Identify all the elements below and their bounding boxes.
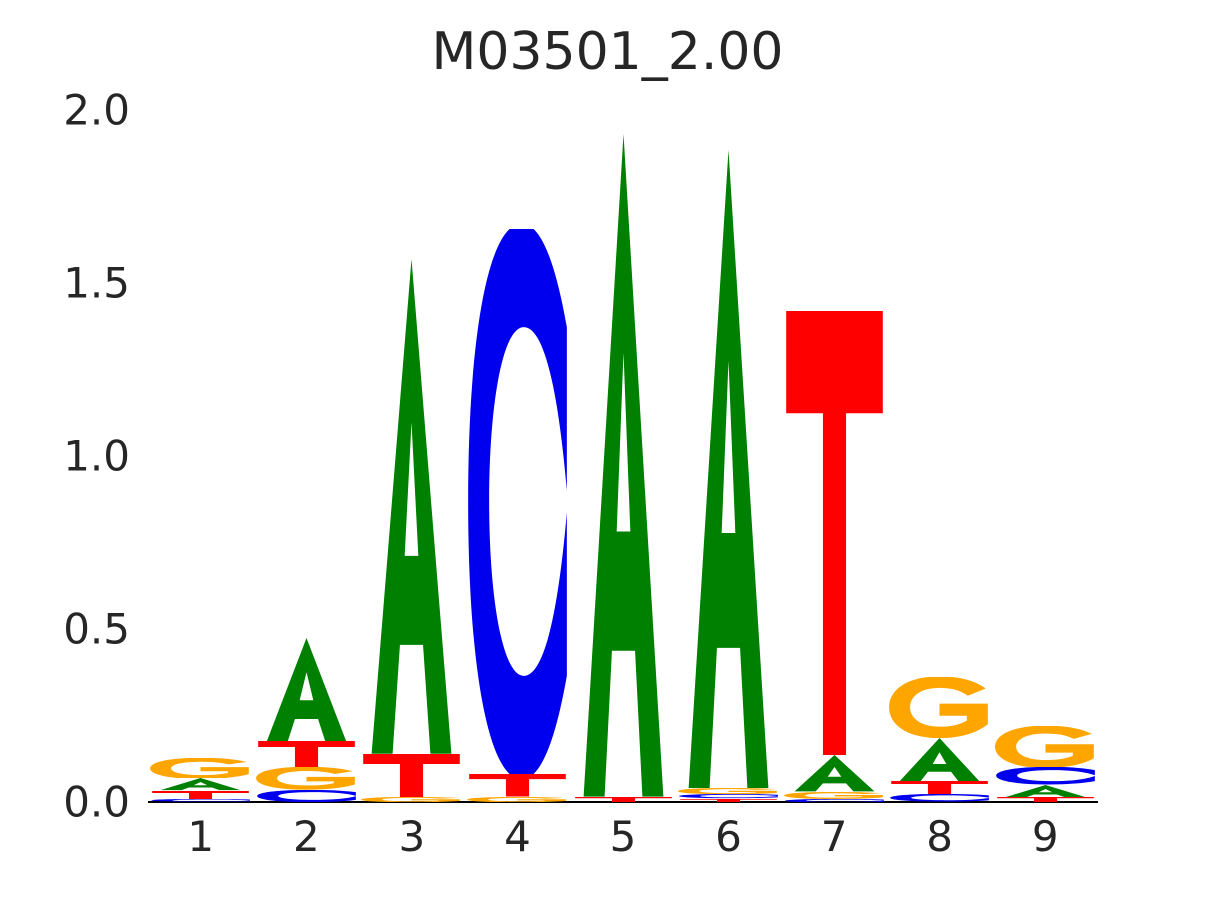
y-axis-ticks: 0.00.51.01.52.0 (0, 0, 130, 900)
letter-stack (254, 638, 359, 802)
y-tick-label: 1.0 (10, 432, 130, 481)
logo-letter-T-pos-3 (359, 754, 464, 797)
logo-letter-C-pos-8 (887, 794, 992, 802)
logo-letter-T-pos-4 (465, 774, 570, 796)
logo-letter-T-pos-2 (254, 741, 359, 767)
logo-column-9 (993, 110, 1098, 802)
x-tick-label-5: 5 (571, 812, 676, 861)
logo-column-3 (359, 110, 464, 802)
logo-letter-G-pos-1 (148, 758, 253, 779)
logo-letter-A-pos-8 (887, 738, 992, 781)
x-tick-label-3: 3 (359, 812, 464, 861)
logo-column-2 (254, 110, 359, 802)
x-tick-label-2: 2 (254, 812, 359, 861)
y-tick-label: 0.0 (10, 778, 130, 827)
letter-stack (148, 758, 253, 802)
logo-letter-A-pos-2 (254, 638, 359, 742)
letter-stack (359, 259, 464, 802)
logo-letter-A-pos-3 (359, 259, 464, 754)
x-tick-label-1: 1 (148, 812, 253, 861)
x-tick-label-9: 9 (993, 812, 1098, 861)
logo-letter-C-pos-7 (782, 799, 887, 802)
logo-letter-C-pos-2 (254, 790, 359, 802)
logo-letter-T-pos-6 (676, 799, 781, 802)
logo-letter-A-pos-5 (571, 134, 676, 797)
y-tick-label: 1.5 (10, 259, 130, 308)
logo-column-8 (887, 110, 992, 802)
logo-letter-T-pos-8 (887, 781, 992, 794)
logo-letter-C-pos-9 (993, 767, 1098, 784)
letter-stack (993, 726, 1098, 802)
logo-letter-T-pos-7 (782, 311, 887, 756)
letter-stack (887, 677, 992, 802)
logo-column-4 (465, 110, 570, 802)
letter-stack (465, 229, 570, 802)
logo-letter-A-pos-9 (993, 785, 1098, 797)
logo-letter-A-pos-6 (676, 150, 781, 788)
logo-letter-A-pos-1 (148, 778, 253, 790)
logo-column-1 (148, 110, 253, 802)
x-tick-label-6: 6 (676, 812, 781, 861)
logo-letter-G-pos-2 (254, 767, 359, 789)
sequence-logo-figure: M03501_2.00 Bits 0.00.51.01.52.0 1234567… (0, 0, 1215, 900)
logo-column-7 (782, 110, 887, 802)
x-tick-label-8: 8 (887, 812, 992, 861)
letter-stack (676, 150, 781, 802)
letter-stack (782, 311, 887, 802)
logo-letter-T-pos-1 (148, 791, 253, 800)
logo-letter-G-pos-4 (465, 797, 570, 802)
logo-letter-G-pos-9 (993, 726, 1098, 768)
logo-letter-A-pos-7 (782, 755, 887, 791)
logo-column-6 (676, 110, 781, 802)
logo-column-5 (571, 110, 676, 802)
logo-letter-G-pos-3 (359, 797, 464, 802)
logo-letter-C-pos-4 (465, 229, 570, 774)
y-tick-label: 2.0 (10, 86, 130, 135)
x-axis-ticks: 123456789 (148, 812, 1098, 882)
x-tick-label-4: 4 (465, 812, 570, 861)
chart-title: M03501_2.00 (0, 22, 1215, 82)
logo-letter-G-pos-8 (887, 677, 992, 738)
x-tick-label-7: 7 (782, 812, 887, 861)
logo-letter-T-pos-9 (993, 797, 1098, 802)
y-tick-label: 0.5 (10, 605, 130, 654)
letter-stack (571, 134, 676, 802)
logo-letter-C-pos-1 (148, 799, 253, 802)
logo-letter-T-pos-5 (571, 797, 676, 802)
logo-letter-G-pos-7 (782, 792, 887, 799)
